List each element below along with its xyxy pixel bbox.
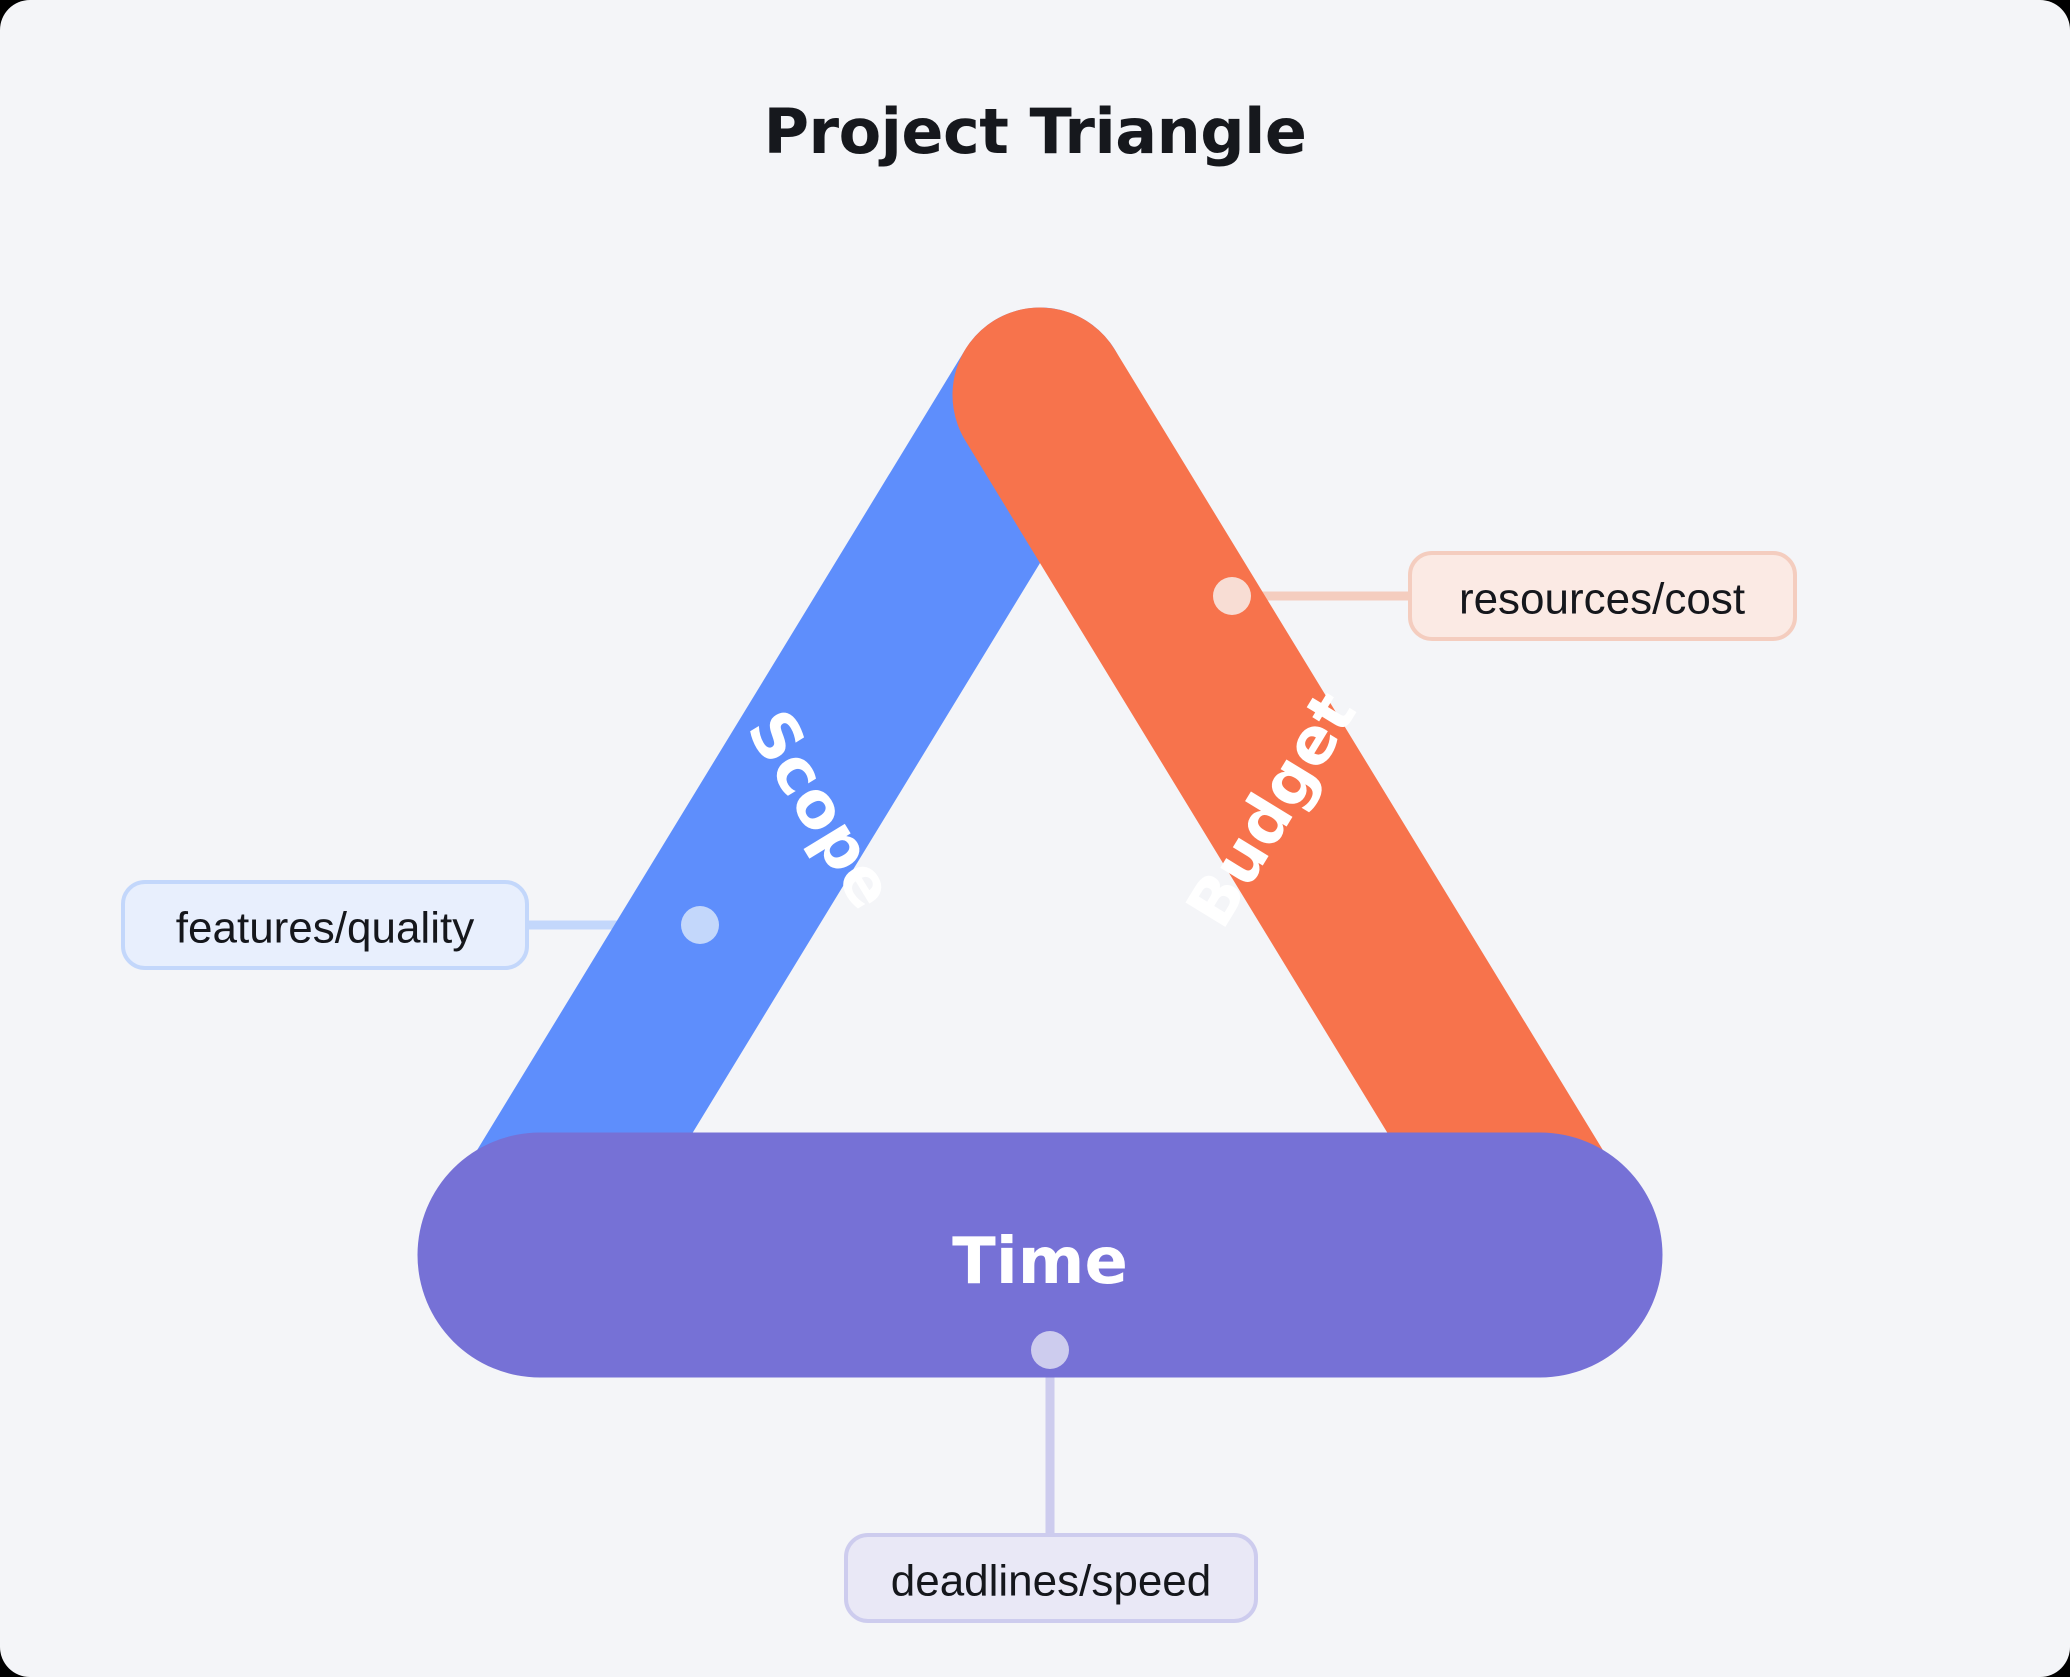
scope-anchor-dot xyxy=(681,906,719,944)
time-edge-label: Time xyxy=(952,1225,1128,1299)
callout-budget[interactable]: resources/cost xyxy=(1410,553,1795,639)
callout-budget-label: resources/cost xyxy=(1459,575,1745,624)
callout-scope-label: features/quality xyxy=(176,904,474,953)
budget-edge[interactable]: Budget xyxy=(1040,395,1540,1215)
time-edge[interactable]: Time xyxy=(540,1225,1540,1299)
diagram-canvas: Project Triangle Scope Budget Time f xyxy=(0,0,2070,1677)
budget-anchor-dot xyxy=(1213,577,1251,615)
scope-edge[interactable]: Scope xyxy=(540,395,1040,1215)
callout-time-label: deadlines/speed xyxy=(891,1557,1211,1606)
callout-time[interactable]: deadlines/speed xyxy=(846,1535,1256,1621)
time-anchor-dot xyxy=(1031,1331,1069,1369)
project-triangle-diagram: Scope Budget Time features/quality resou… xyxy=(0,0,2070,1677)
callout-scope[interactable]: features/quality xyxy=(123,882,527,968)
